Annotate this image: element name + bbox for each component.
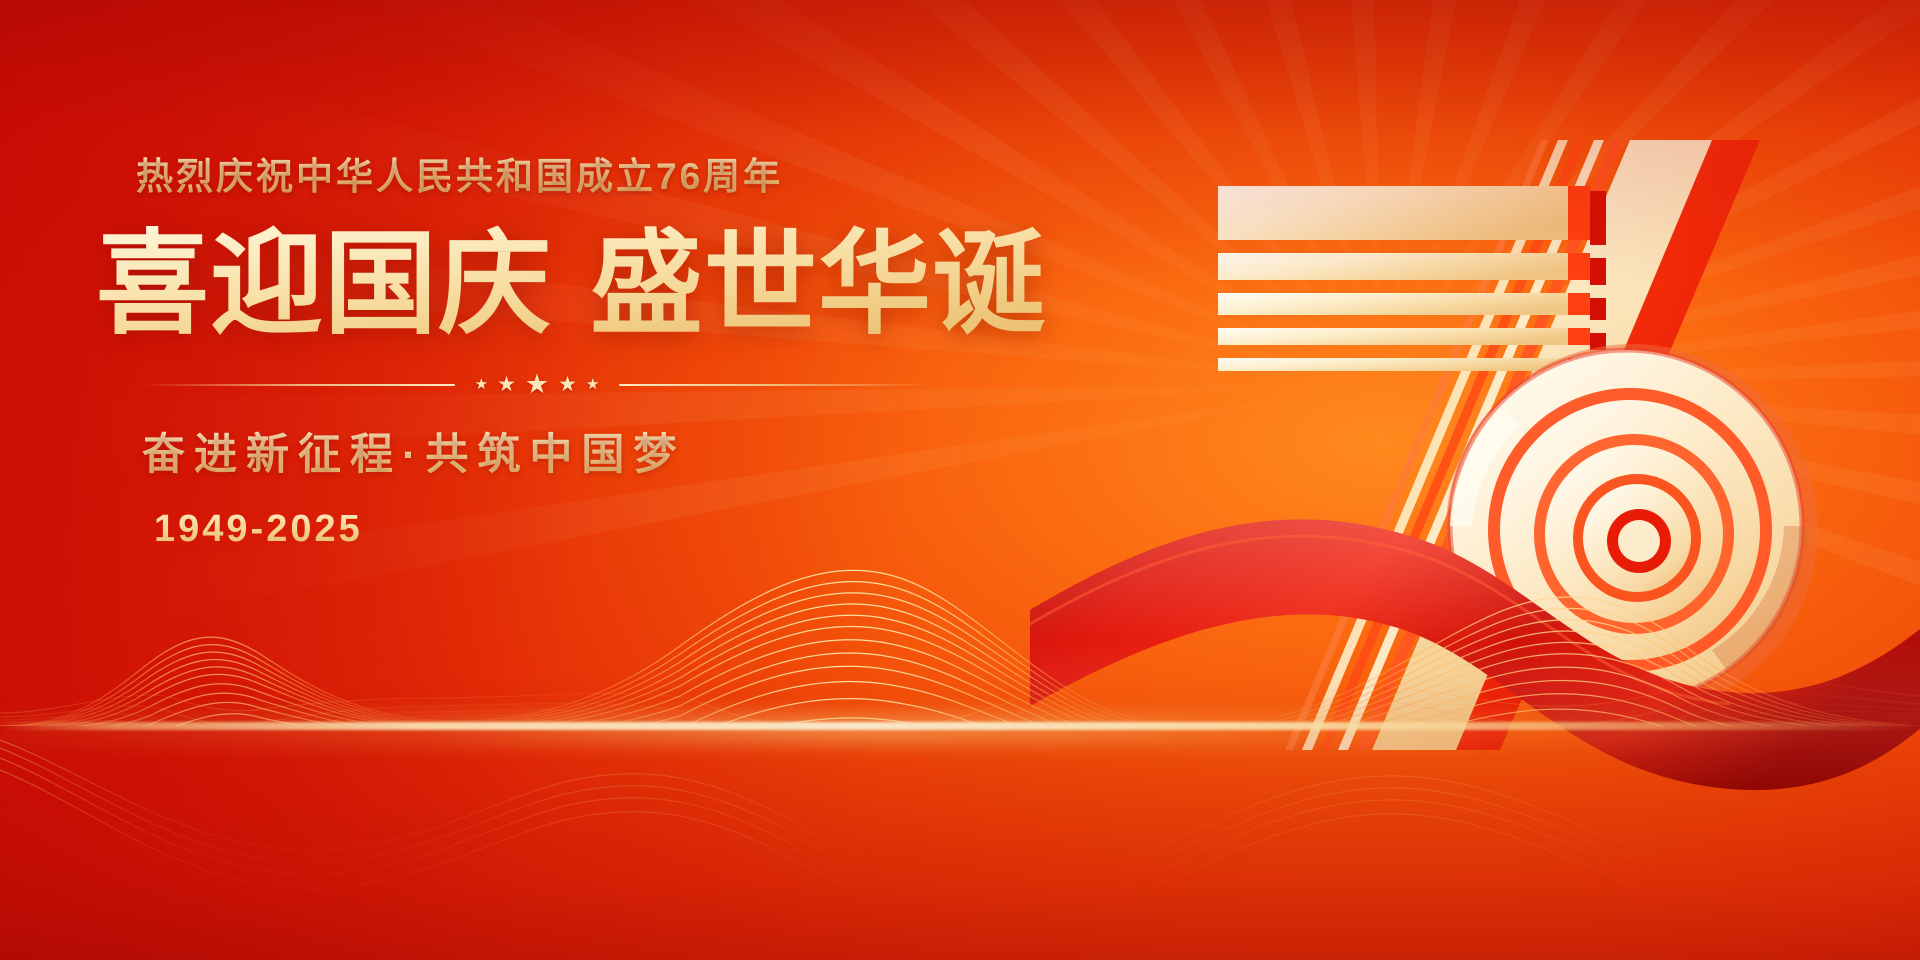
star-icon: ★ (475, 377, 488, 392)
tagline-text: 奋进新征程·共筑中国梦 (142, 420, 1056, 482)
year-range-text: 1949-2025 (154, 508, 1056, 551)
headline-part-1: 喜迎国庆 (96, 221, 552, 347)
star-icon: ★ (525, 371, 549, 398)
star-group: ★ ★ ★ ★ ★ (471, 371, 604, 398)
headline-part-2: 盛世华诞 (590, 221, 1046, 347)
national-day-banner: 热烈庆祝中华人民共和国成立76周年 喜迎国庆盛世华诞 ★ ★ ★ ★ ★ 奋进新… (0, 0, 1920, 960)
star-icon: ★ (558, 374, 577, 395)
star-divider: ★ ★ ★ ★ ★ (142, 371, 932, 398)
main-headline: 喜迎国庆盛世华诞 (96, 218, 1056, 351)
star-icon: ★ (497, 374, 516, 395)
star-icon: ★ (586, 377, 599, 392)
anniversary-eyebrow-text: 热烈庆祝中华人民共和国成立76周年 (136, 146, 1056, 200)
divider-line-right (619, 384, 932, 386)
divider-line-left (142, 384, 455, 386)
headline-copy-block: 热烈庆祝中华人民共和国成立76周年 喜迎国庆盛世华诞 ★ ★ ★ ★ ★ 奋进新… (96, 146, 1056, 551)
